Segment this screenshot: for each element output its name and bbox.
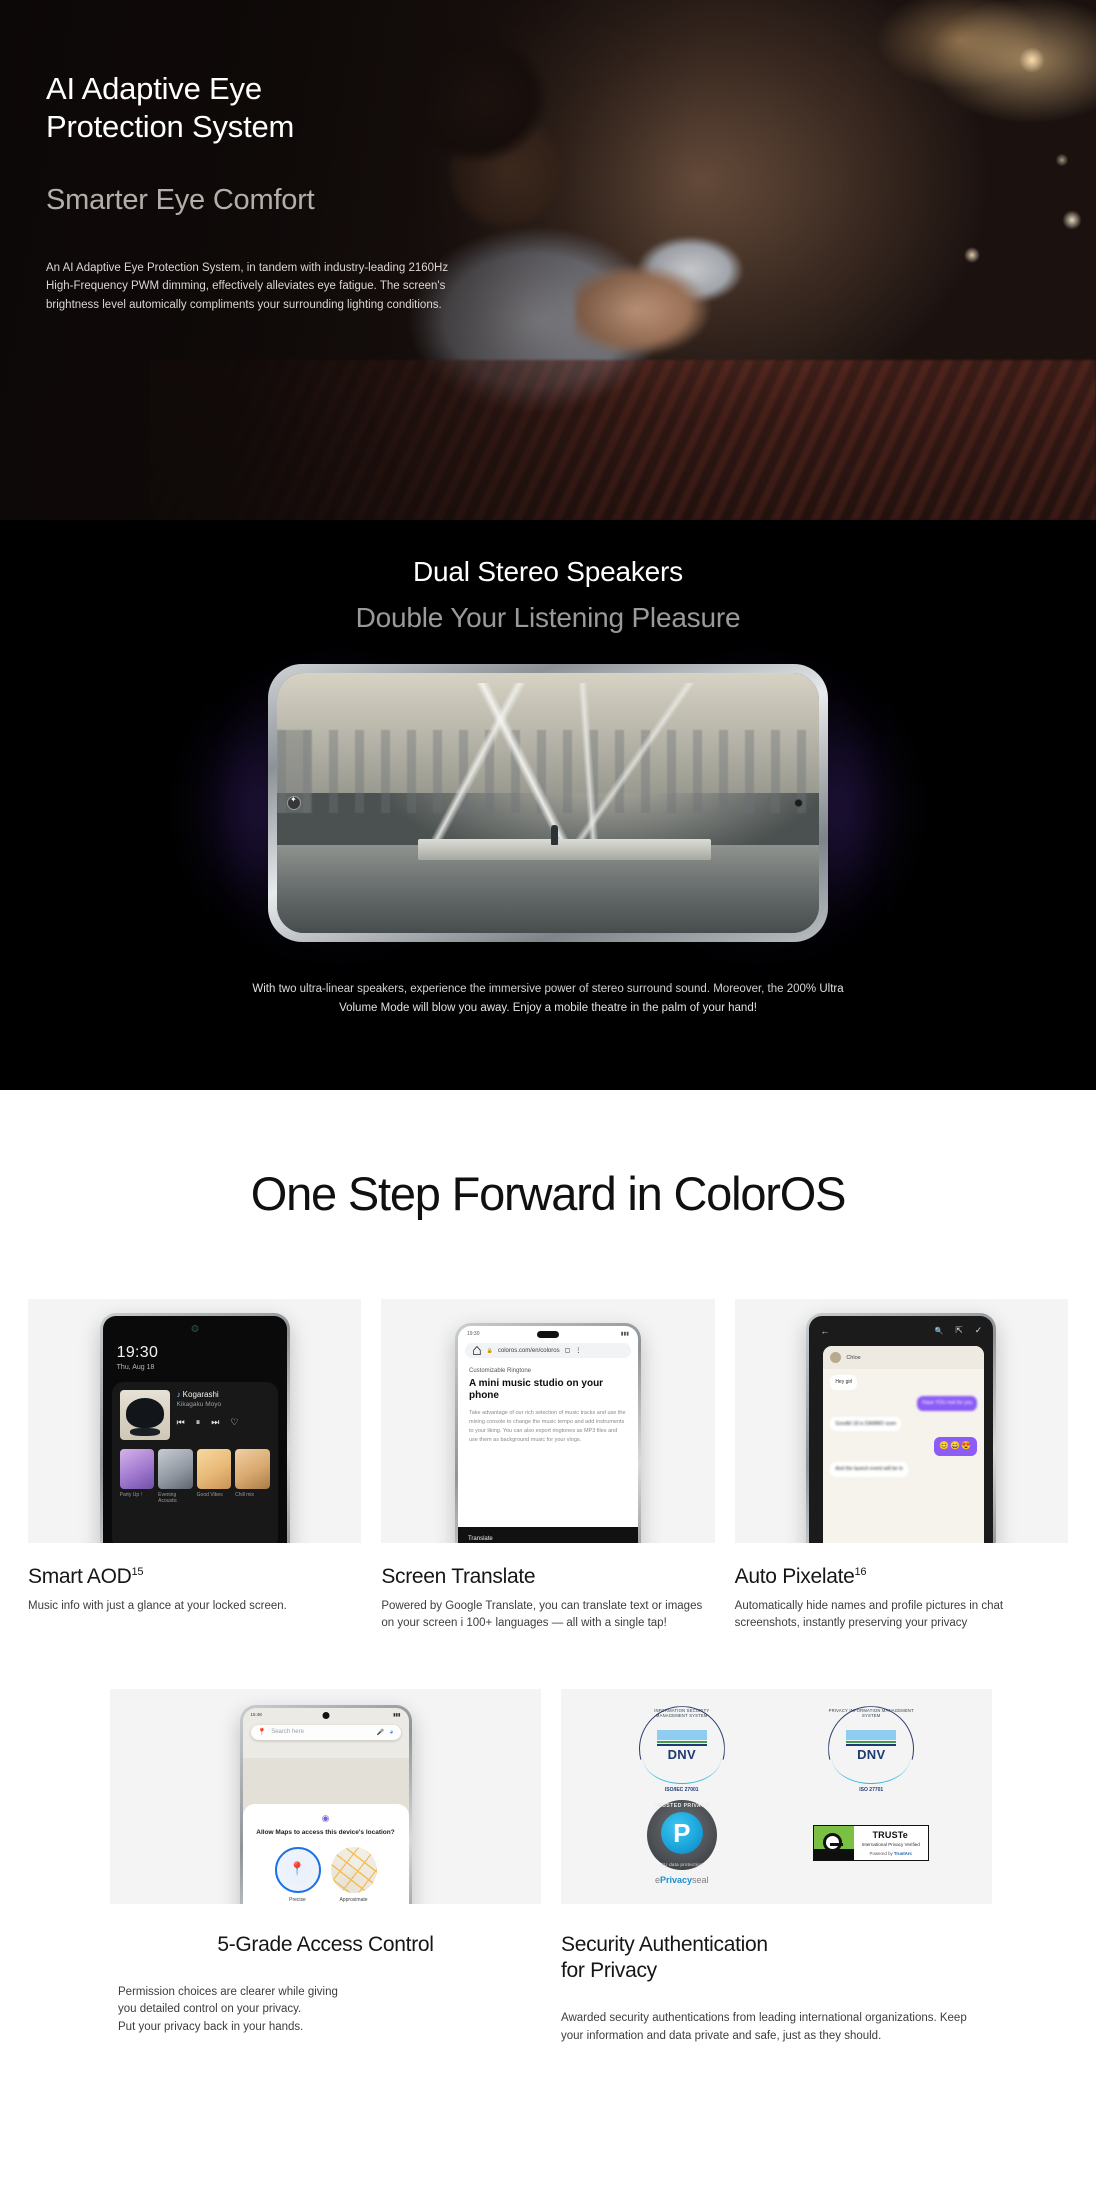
status-icons: ▮▮▮ xyxy=(621,1331,629,1337)
translate-phone-mockup: 19:30 ▮▮▮ ⌂ 🔒 coloros.com/en/coloros ▢ ⋮… xyxy=(455,1323,641,1543)
maps-logo-icon: 📍 xyxy=(258,1728,267,1736)
speakers-subtitle: Double Your Listening Pleasure xyxy=(0,602,1096,634)
aod-artist: Kikagaku Moyo xyxy=(177,1401,270,1408)
favorite-heart-icon[interactable]: ♡ xyxy=(230,1417,238,1428)
translate-screen: 19:30 ▮▮▮ ⌂ 🔒 coloros.com/en/coloros ▢ ⋮… xyxy=(458,1326,638,1543)
aod-track-meta: ♪Kogarashi Kikagaku Moyo ⏮ ⏸ ⏭ ♡ xyxy=(177,1390,270,1440)
speakers-title: Dual Stereo Speakers xyxy=(0,520,1096,588)
article-headline: A mini music studio on your phone xyxy=(469,1378,627,1402)
front-camera-icon xyxy=(794,799,803,808)
auto-pixelate-title-text: Auto Pixelate xyxy=(735,1565,855,1588)
aod-song-title: Kogarashi xyxy=(183,1390,219,1399)
feature-card-screen-translate[interactable]: 19:30 ▮▮▮ ⌂ 🔒 coloros.com/en/coloros ▢ ⋮… xyxy=(381,1299,714,1633)
security-title-line2: for Privacy xyxy=(561,1959,657,1982)
location-pin-icon: ◉ xyxy=(253,1813,399,1824)
permission-option-approximate[interactable]: Approximate xyxy=(331,1847,377,1903)
truste-e-icon xyxy=(823,1833,842,1852)
back-arrow-icon[interactable]: ← xyxy=(820,1326,829,1336)
dnv-standard: ISO 27701 xyxy=(828,1787,914,1793)
truste-brand: TrustArc xyxy=(894,1851,912,1856)
location-permission-dialog[interactable]: ◉ Allow Maps to access this device's loc… xyxy=(243,1804,409,1904)
dnv-wordmark: DNV xyxy=(846,1747,896,1762)
dnv-bars-icon xyxy=(846,1730,896,1746)
smart-aod-media: 19:30 Thu, Aug 18 ♪Kogarashi Kikagaku Mo… xyxy=(28,1299,361,1543)
playlist-tile[interactable]: Evening Acoustic xyxy=(158,1449,193,1505)
truste-powered-by: Powered by TrustArc xyxy=(856,1851,925,1856)
next-track-icon[interactable]: ⏭ xyxy=(211,1417,219,1428)
access-control-desc-line1: Permission choices are clearer while giv… xyxy=(118,1986,338,1998)
confirm-check-icon[interactable]: ✓ xyxy=(975,1325,983,1336)
maps-phone-mockup: 15:48 ▮▮▮ 📍 Search here 🎤 ◕ ◉ Allow xyxy=(240,1705,412,1904)
permission-options[interactable]: Precise Approximate xyxy=(253,1847,399,1903)
eprivacy-label-c: seal xyxy=(692,1875,709,1885)
playlist-label: Evening Acoustic xyxy=(158,1492,193,1505)
eye-hero-subtitle: Smarter Eye Comfort xyxy=(46,184,566,217)
screenshot-toolbar[interactable]: ← 🔍 ⇱ ✓ xyxy=(809,1316,993,1336)
screen-translate-desc: Powered by Google Translate, you can tra… xyxy=(381,1598,714,1633)
auto-pixelate-title: Auto Pixelate16 xyxy=(735,1565,1068,1589)
search-icon[interactable]: 🔍 xyxy=(935,1327,944,1335)
playlist-cover xyxy=(197,1449,232,1489)
maps-search-placeholder[interactable]: Search here xyxy=(271,1729,372,1735)
eprivacy-bottom-text: EU data protection xyxy=(647,1862,717,1867)
status-time: 19:30 xyxy=(467,1331,480,1337)
chat-row: Goodbl 18 is DAMMO soon xyxy=(830,1417,977,1432)
menu-icon[interactable]: ⋮ xyxy=(575,1347,581,1354)
chat-contact-name: Chloe xyxy=(846,1355,860,1361)
dnv-inner: DNV xyxy=(846,1730,896,1762)
avatar xyxy=(830,1352,841,1363)
precise-label: Precise xyxy=(275,1897,321,1903)
dnv-ring-text: INFORMATION SECURITY MANAGEMENT SYSTEM xyxy=(639,1708,725,1718)
dnv-seal-icon: PRIVACY INFORMATION MANAGEMENT SYSTEM DN… xyxy=(828,1706,914,1792)
hero-text-block: AI Adaptive Eye Protection System Smarte… xyxy=(46,70,566,315)
screen-translate-title-text: Screen Translate xyxy=(381,1565,535,1588)
truste-powered-pre: Powered by xyxy=(870,1851,894,1856)
camera-punchhole-icon xyxy=(322,1712,329,1719)
dnv-standard: ISO/IEC 27001 xyxy=(639,1787,725,1793)
truste-seal-icon: TRUSTe International Privacy Verified Po… xyxy=(813,1825,929,1861)
aod-screen: 19:30 Thu, Aug 18 ♪Kogarashi Kikagaku Mo… xyxy=(103,1316,287,1543)
game-character xyxy=(551,825,558,845)
playlist-tile[interactable]: Party Up ! xyxy=(120,1449,155,1505)
access-control-title: 5-Grade Access Control xyxy=(110,1932,541,1958)
access-control-desc-line3: Put your privacy back in your hands. xyxy=(118,2021,303,2033)
eprivacyseal-icon: TRUSTED PRIVACY P EU data protection xyxy=(647,1800,717,1870)
certification-badges: INFORMATION SECURITY MANAGEMENT SYSTEM D… xyxy=(561,1689,992,1904)
phone-screen-game xyxy=(277,673,819,933)
game-hud-icon[interactable] xyxy=(287,796,301,810)
aod-phone-mockup: 19:30 Thu, Aug 18 ♪Kogarashi Kikagaku Mo… xyxy=(100,1313,290,1543)
chat-row: Hey girl xyxy=(830,1375,977,1390)
status-icons: ▮▮▮ xyxy=(393,1712,400,1718)
aod-playlist-tiles[interactable]: Party Up ! Evening Acoustic Good Vibes xyxy=(120,1449,270,1505)
share-icon[interactable]: ⇱ xyxy=(955,1325,963,1336)
smart-aod-title: Smart AOD15 xyxy=(28,1565,361,1589)
feature-card-access-control[interactable]: 15:48 ▮▮▮ 📍 Search here 🎤 ◕ ◉ Allow xyxy=(104,1689,541,2046)
avatar[interactable]: ◕ xyxy=(389,1729,393,1736)
speakers-body-wrap: With two ultra-linear speakers, experien… xyxy=(0,980,1096,1018)
badge-dnv-iso27701: PRIVACY INFORMATION MANAGEMENT SYSTEM DN… xyxy=(828,1706,914,1792)
screen-translate-media: 19:30 ▮▮▮ ⌂ 🔒 coloros.com/en/coloros ▢ ⋮… xyxy=(381,1299,714,1543)
auto-pixelate-desc: Automatically hide names and profile pic… xyxy=(735,1598,1068,1633)
eprivacy-letter: P xyxy=(661,1812,703,1854)
access-control-desc-line2: you detailed control on your privacy. xyxy=(118,2003,301,2015)
chat-bubble-pixelated: Have YOU met for you xyxy=(917,1396,977,1411)
chat-row: Have YOU met for you xyxy=(830,1396,977,1411)
pixelate-phone-mockup: ← 🔍 ⇱ ✓ Chloe xyxy=(806,1313,996,1543)
playlist-label: Party Up ! xyxy=(120,1492,155,1498)
eye-hero-title-line1: AI Adaptive Eye xyxy=(46,71,262,106)
camera-icon xyxy=(191,1325,198,1332)
dnv-arc xyxy=(832,1758,910,1784)
home-icon[interactable]: ⌂ xyxy=(472,1342,482,1360)
article-body: Customizable Ringtone A mini music studi… xyxy=(458,1358,638,1445)
playlist-cover xyxy=(120,1449,155,1489)
article-kicker: Customizable Ringtone xyxy=(469,1368,627,1374)
badge-eprivacyseal: TRUSTED PRIVACY P EU data protection ePr… xyxy=(647,1800,717,1885)
microphone-icon[interactable]: 🎤 xyxy=(377,1729,384,1736)
pixelate-screen: ← 🔍 ⇱ ✓ Chloe xyxy=(809,1316,993,1543)
equalizer-icon: ♪ xyxy=(177,1390,181,1399)
eprivacyseal-wordmark: ePrivacyseal xyxy=(647,1875,717,1885)
chat-bubble: Hey girl xyxy=(830,1375,857,1390)
dnv-arc xyxy=(643,1758,721,1784)
article-paragraph: Take advantage of our rich selection of … xyxy=(469,1409,627,1445)
eye-hero-title-line2: Protection System xyxy=(46,109,294,144)
status-time: 15:48 xyxy=(251,1712,262,1718)
eprivacy-label-b: Privacy xyxy=(660,1875,692,1885)
dnv-wordmark: DNV xyxy=(657,1747,707,1762)
speakers-body: With two ultra-linear speakers, experien… xyxy=(238,980,858,1018)
smart-aod-footnote: 15 xyxy=(132,1566,144,1578)
maps-search-bar[interactable]: 📍 Search here 🎤 ◕ xyxy=(251,1725,401,1740)
truste-title: TRUSTe xyxy=(856,1830,924,1840)
maps-screen: 15:48 ▮▮▮ 📍 Search here 🎤 ◕ ◉ Allow xyxy=(243,1708,409,1904)
security-title-line1: Security Authentication xyxy=(561,1933,768,1956)
coloros-privacy-grid: 15:48 ▮▮▮ 📍 Search here 🎤 ◕ ◉ Allow xyxy=(0,1689,1096,2046)
playlist-label: Good Vibes xyxy=(197,1492,232,1498)
tabs-icon[interactable]: ▢ xyxy=(565,1347,571,1354)
address-bar-url[interactable]: coloros.com/en/coloros xyxy=(498,1348,560,1354)
dnv-inner: DNV xyxy=(657,1730,707,1762)
aod-date: Thu, Aug 18 xyxy=(117,1364,155,1371)
chat-messages: Hey girl Have YOU met for you Goodbl 18 … xyxy=(823,1369,984,1489)
truste-subtitle: International Privacy Verified xyxy=(856,1842,925,1847)
approximate-location-icon xyxy=(331,1847,377,1893)
eye-protection-hero: AI Adaptive Eye Protection System Smarte… xyxy=(0,0,1096,520)
chat-bubble-pixelated: Goodbl 18 is DAMMO soon xyxy=(830,1417,901,1432)
dnv-ring-text: PRIVACY INFORMATION MANAGEMENT SYSTEM xyxy=(828,1708,914,1718)
approximate-label: Approximate xyxy=(331,1897,377,1903)
translate-prompt-panel[interactable]: Translate Translate this page into your … xyxy=(458,1527,638,1543)
permission-question: Allow Maps to access this device's locat… xyxy=(253,1828,399,1837)
dnv-bars-icon xyxy=(657,1730,707,1746)
dual-stereo-speakers-section: Dual Stereo Speakers Double Your Listeni… xyxy=(0,520,1096,1090)
pause-icon[interactable]: ⏸ xyxy=(196,1417,201,1428)
playlist-cover xyxy=(235,1449,270,1489)
security-badges-media: INFORMATION SECURITY MANAGEMENT SYSTEM D… xyxy=(561,1689,992,1904)
screen-translate-title: Screen Translate xyxy=(381,1565,714,1589)
smart-aod-title-text: Smart AOD xyxy=(28,1565,132,1588)
feature-card-smart-aod[interactable]: 19:30 Thu, Aug 18 ♪Kogarashi Kikagaku Mo… xyxy=(28,1299,361,1633)
playlist-tile[interactable]: Good Vibes xyxy=(197,1449,232,1505)
auto-pixelate-media: ← 🔍 ⇱ ✓ Chloe xyxy=(735,1299,1068,1543)
chat-bubble-pixelated: And the launch event will be in xyxy=(830,1462,908,1477)
precise-location-icon xyxy=(275,1847,321,1893)
aod-now-playing: ♪Kogarashi Kikagaku Moyo ⏮ ⏸ ⏭ ♡ xyxy=(120,1390,270,1440)
eprivacy-top-text: TRUSTED PRIVACY xyxy=(647,1803,717,1809)
speakers-stage xyxy=(0,658,1096,958)
coloros-heading: One Step Forward in ColorOS xyxy=(0,1166,1096,1221)
coloros-feature-grid: 19:30 Thu, Aug 18 ♪Kogarashi Kikagaku Mo… xyxy=(0,1299,1096,1633)
game-platform xyxy=(418,839,711,860)
playlist-label: Chill mix xyxy=(235,1492,270,1498)
game-structures xyxy=(320,683,743,844)
chat-bubble-emoji: 😊😄😍 xyxy=(934,1437,977,1456)
access-control-desc: Permission choices are clearer while giv… xyxy=(110,1984,541,2036)
landscape-phone-mockup xyxy=(268,664,828,942)
previous-track-icon[interactable]: ⏮ xyxy=(177,1417,185,1428)
feature-card-security-authentication[interactable]: INFORMATION SECURITY MANAGEMENT SYSTEM D… xyxy=(561,1689,992,2046)
aod-music-panel: ♪Kogarashi Kikagaku Moyo ⏮ ⏸ ⏭ ♡ xyxy=(112,1382,278,1543)
playlist-tile[interactable]: Chill mix xyxy=(235,1449,270,1505)
chat-row: And the launch event will be in xyxy=(830,1462,977,1477)
browser-address-bar[interactable]: ⌂ 🔒 coloros.com/en/coloros ▢ ⋮ xyxy=(465,1343,631,1358)
coloros-section: One Step Forward in ColorOS 19:30 Thu, A… xyxy=(0,1090,1096,2045)
album-art xyxy=(120,1390,170,1440)
smart-aod-desc: Music info with just a glance at your lo… xyxy=(28,1598,361,1615)
access-control-media: 15:48 ▮▮▮ 📍 Search here 🎤 ◕ ◉ Allow xyxy=(110,1689,541,1904)
chat-header: Chloe xyxy=(823,1346,984,1369)
playlist-cover xyxy=(158,1449,193,1489)
auto-pixelate-footnote: 16 xyxy=(855,1566,867,1578)
badge-truste: TRUSTe International Privacy Verified Po… xyxy=(813,1825,929,1861)
eye-hero-title: AI Adaptive Eye Protection System xyxy=(46,70,566,146)
camera-punchhole-icon xyxy=(537,1331,559,1338)
security-authentication-desc: Awarded security authentications from le… xyxy=(561,2010,992,2045)
chat-row: 😊😄😍 xyxy=(830,1437,977,1456)
translate-panel-title: Translate xyxy=(468,1536,493,1542)
dnv-seal-icon: INFORMATION SECURITY MANAGEMENT SYSTEM D… xyxy=(639,1706,725,1792)
aod-song-row: ♪Kogarashi xyxy=(177,1390,270,1399)
eye-hero-body: An AI Adaptive Eye Protection System, in… xyxy=(46,259,464,315)
feature-card-auto-pixelate[interactable]: ← 🔍 ⇱ ✓ Chloe xyxy=(735,1299,1068,1633)
lock-icon: 🔒 xyxy=(487,1348,493,1354)
aod-clock: 19:30 xyxy=(117,1344,159,1362)
chat-screenshot-sheet: Chloe Hey girl Have YOU met for you xyxy=(823,1346,984,1543)
security-authentication-title: Security Authentication for Privacy xyxy=(561,1932,992,1985)
aod-transport-controls[interactable]: ⏮ ⏸ ⏭ ♡ xyxy=(177,1417,270,1428)
badge-dnv-iso27001: INFORMATION SECURITY MANAGEMENT SYSTEM D… xyxy=(639,1706,725,1792)
permission-option-precise[interactable]: Precise xyxy=(275,1847,321,1903)
